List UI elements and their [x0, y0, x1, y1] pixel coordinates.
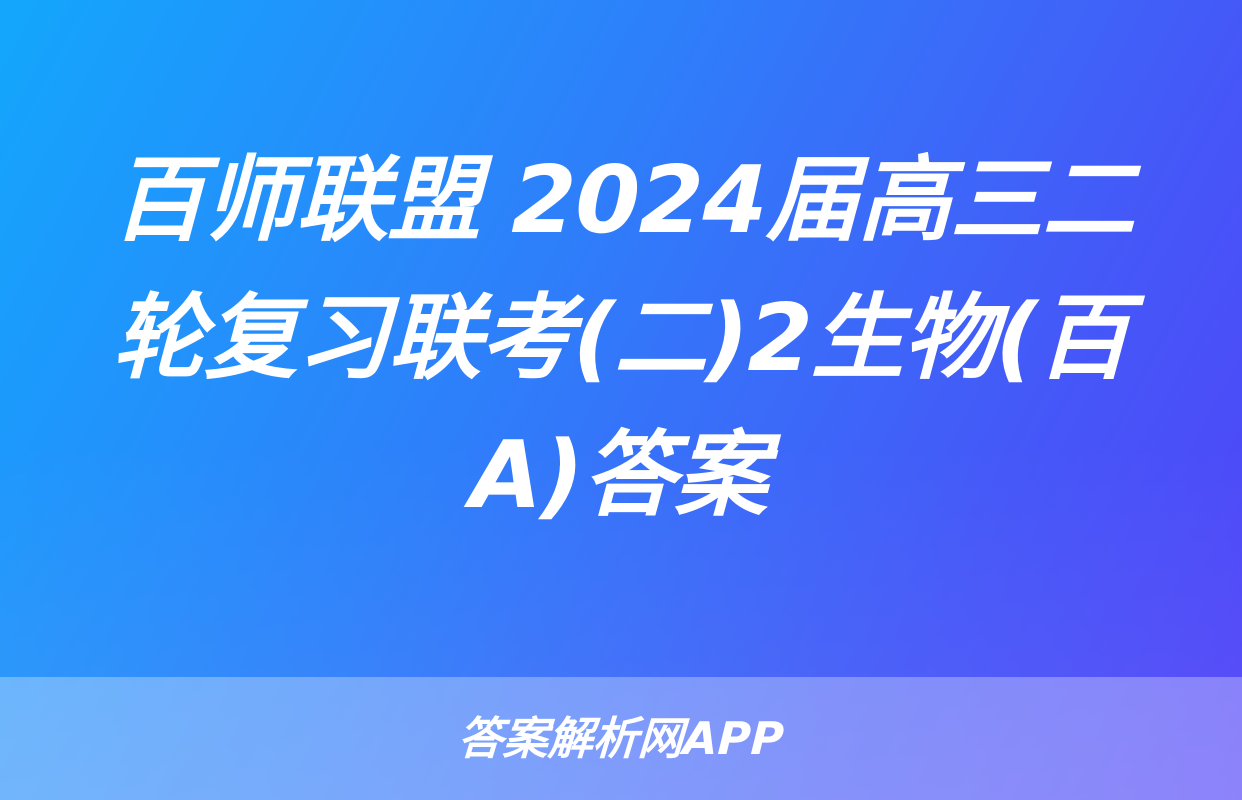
watermark-text: 答案解析网APP [457, 716, 785, 761]
title-block: 百师联盟 2024届高三二轮复习联考(二)2生物(百A)答案 [0, 0, 1242, 676]
footer-watermark-band: 答案解析网APP [0, 677, 1242, 800]
page-title: 百师联盟 2024届高三二轮复习联考(二)2生物(百A)答案 [77, 132, 1164, 545]
answer-cover-card: 百师联盟 2024届高三二轮复习联考(二)2生物(百A)答案 答案解析网APP [0, 0, 1242, 800]
